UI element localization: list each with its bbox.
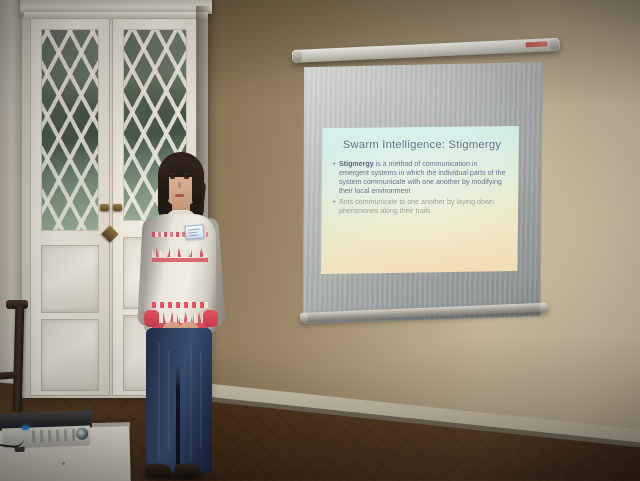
door-panel-lower-left <box>41 319 99 391</box>
door-leaf-left[interactable] <box>30 18 110 396</box>
projected-slide: Swarm Intelligence: Stigmergy • Stigmerg… <box>321 126 519 274</box>
hair-side-left <box>159 165 169 203</box>
slide-bullet-list: • Stigmergy is a method of communication… <box>333 160 509 216</box>
sleeve-cuff-right <box>203 310 218 327</box>
bullet-text: Ants communicate to one another by layin… <box>339 198 509 216</box>
door-handle-left[interactable] <box>100 204 109 211</box>
bullet-text: Stigmergy is a method of communication i… <box>339 160 509 196</box>
projector-vent <box>40 430 43 442</box>
table-screw <box>62 462 65 465</box>
projector-vent <box>32 430 35 442</box>
projector-vent <box>48 430 51 442</box>
door-glass-left <box>41 29 99 231</box>
weight-bar-cap-right <box>540 303 548 312</box>
eyebrow-left <box>169 173 175 175</box>
jeans-fold <box>158 342 160 462</box>
projector-vent <box>56 430 59 442</box>
eyebrow-right <box>183 173 189 175</box>
slide-bullet-item: • Ants communicate to one another by lay… <box>333 198 509 216</box>
door-handle-right[interactable] <box>113 204 122 211</box>
nose <box>178 182 181 188</box>
slide-title: Swarm Intelligence: Stigmergy <box>335 139 509 151</box>
roller-brand-label <box>526 41 548 47</box>
slide-content: Swarm Intelligence: Stigmergy • Stigmerg… <box>321 126 519 216</box>
bullet-lead-term: Stigmergy <box>339 160 374 168</box>
name-badge <box>184 224 204 240</box>
roller-end-cap-right <box>549 39 558 50</box>
badge-text-line <box>188 234 198 236</box>
jeans-fold <box>168 350 170 450</box>
shoe-right <box>175 464 200 477</box>
knit-pattern-band <box>152 302 208 308</box>
sleeve-cuff-left <box>144 310 159 327</box>
projector-power-led <box>22 426 29 430</box>
weight-bar-cap-left <box>300 313 308 322</box>
hair-side-right <box>192 165 202 205</box>
slide-bullet-item: • Stigmergy is a method of communication… <box>333 160 509 196</box>
projector-vent <box>64 429 67 441</box>
badge-text-line <box>188 229 200 231</box>
jeans-fold <box>190 344 192 462</box>
projector-foot <box>15 447 25 452</box>
mouth <box>175 194 184 197</box>
jeans-fold <box>200 352 202 448</box>
glass-reflection <box>42 30 98 230</box>
door-panel-upper-left <box>41 245 99 313</box>
shoe-left <box>146 464 171 477</box>
projector-vent <box>72 429 75 441</box>
roller-end-cap-left <box>293 51 302 62</box>
jeans-inseam <box>176 364 180 474</box>
knit-pattern-band <box>152 258 208 262</box>
presenter <box>128 152 232 481</box>
photo-scene: Swarm Intelligence: Stigmergy • Stigmerg… <box>0 0 640 481</box>
